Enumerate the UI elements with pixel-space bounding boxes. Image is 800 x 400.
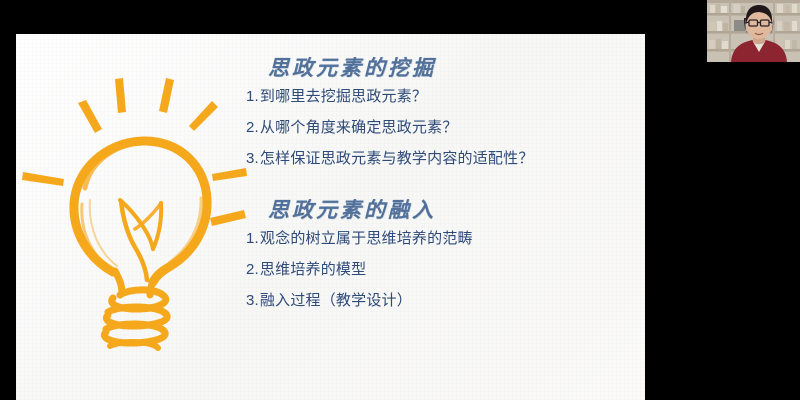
section-heading-integration: 思政元素的融入 bbox=[268, 194, 639, 224]
screen-capture: 思政元素的挖掘 1.到哪里去挖掘思政元素？ 2.从哪个角度来确定思政元素？ 3.… bbox=[0, 0, 800, 400]
slide-text-content: 思政元素的挖掘 1.到哪里去挖掘思政元素？ 2.从哪个角度来确定思政元素？ 3.… bbox=[244, 52, 639, 315]
list-item: 2.思维培养的模型 bbox=[244, 262, 639, 278]
list-item-text: 融入过程（教学设计） bbox=[260, 292, 412, 309]
list-item-number: 2. bbox=[246, 261, 259, 278]
lightbulb-illustration bbox=[16, 76, 251, 351]
section-heading-mining: 思政元素的挖掘 bbox=[268, 52, 639, 82]
list-item: 1.观念的树立属于思维培养的范畴 bbox=[244, 231, 639, 247]
list-item-text: 从哪个角度来确定思政元素？ bbox=[260, 119, 458, 136]
section-list-mining: 1.到哪里去挖掘思政元素？ 2.从哪个角度来确定思政元素？ 3.怎样保证思政元素… bbox=[244, 89, 639, 166]
list-item-text: 怎样保证思政元素与教学内容的适配性？ bbox=[260, 150, 534, 167]
bulb-outline-group bbox=[74, 141, 207, 295]
list-item-text: 观念的树立属于思维培养的范畴 bbox=[260, 230, 473, 247]
list-item-number: 1. bbox=[246, 88, 259, 105]
list-item-number: 2. bbox=[246, 119, 259, 136]
section-list-integration: 1.观念的树立属于思维培养的范畴 2.思维培养的模型 3.融入过程（教学设计） bbox=[244, 231, 639, 308]
list-item-text: 思维培养的模型 bbox=[260, 261, 366, 278]
list-item: 1.到哪里去挖掘思政元素？ bbox=[244, 89, 639, 105]
light-rays-group bbox=[22, 78, 247, 226]
list-item: 3.融入过程（教学设计） bbox=[244, 293, 639, 309]
list-item-text: 到哪里去挖掘思政元素？ bbox=[260, 88, 427, 105]
section-integration: 思政元素的融入 1.观念的树立属于思维培养的范畴 2.思维培养的模型 3.融入过… bbox=[244, 194, 639, 308]
presenter-webcam-overlay[interactable] bbox=[707, 0, 800, 62]
list-item-number: 3. bbox=[246, 150, 259, 167]
list-item: 2.从哪个角度来确定思政元素？ bbox=[244, 120, 639, 136]
screw-base-coil-group bbox=[104, 290, 167, 348]
filament-group bbox=[120, 200, 161, 280]
list-item-number: 3. bbox=[246, 292, 259, 309]
presentation-slide: 思政元素的挖掘 1.到哪里去挖掘思政元素？ 2.从哪个角度来确定思政元素？ 3.… bbox=[16, 34, 645, 400]
list-item-number: 1. bbox=[246, 230, 259, 247]
section-mining: 思政元素的挖掘 1.到哪里去挖掘思政元素？ 2.从哪个角度来确定思政元素？ 3.… bbox=[244, 52, 639, 166]
list-item: 3.怎样保证思政元素与教学内容的适配性？ bbox=[244, 151, 639, 167]
